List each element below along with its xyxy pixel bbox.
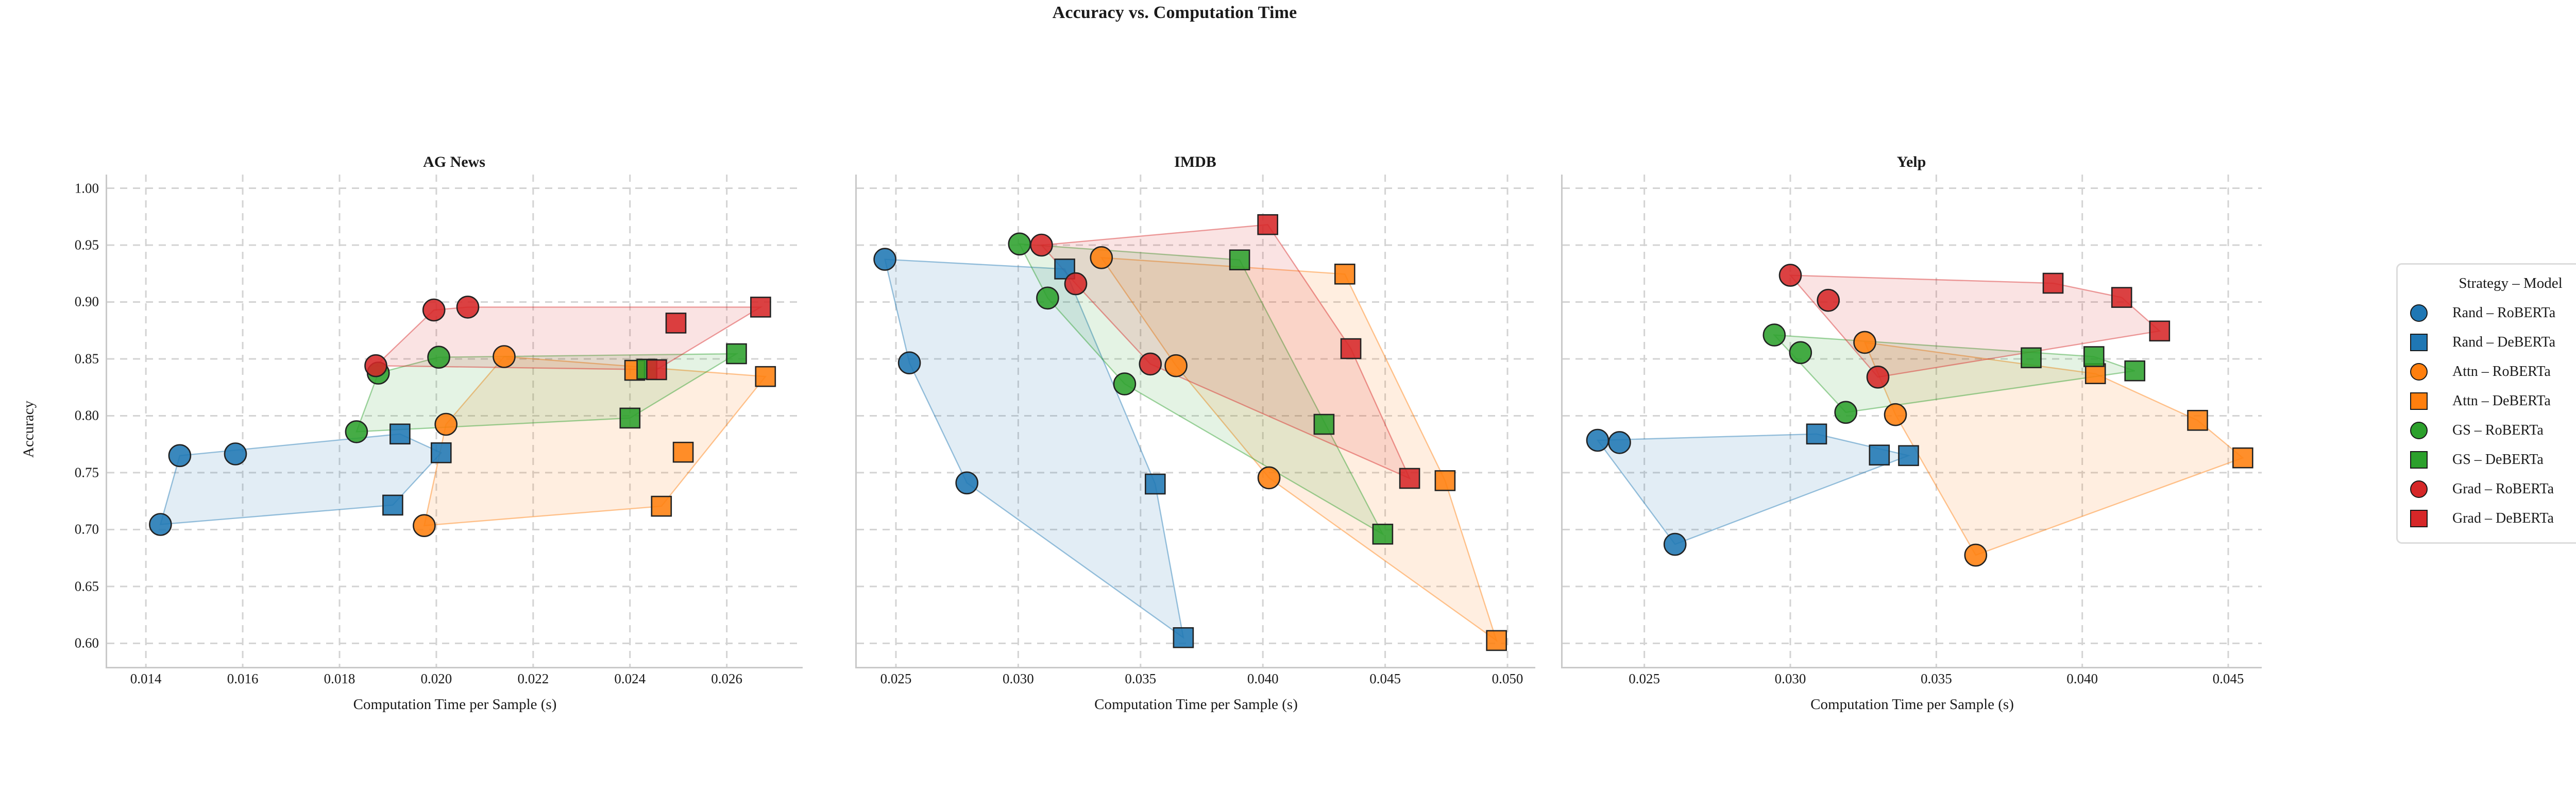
legend-item-label: Attn – DeBERTa bbox=[2452, 393, 2551, 409]
x-tick-label: 0.016 bbox=[227, 671, 259, 687]
data-point-circle[interactable] bbox=[413, 515, 435, 537]
data-point-circle[interactable] bbox=[494, 346, 515, 368]
plot-svg bbox=[857, 175, 1535, 667]
y-axis-label: Accuracy bbox=[21, 352, 38, 507]
data-point-square[interactable] bbox=[2233, 448, 2252, 468]
data-point-square[interactable] bbox=[383, 495, 402, 515]
data-point-circle[interactable] bbox=[1867, 366, 1889, 388]
legend-rows: Rand – RoBERTaRand – DeBERTaAttn – RoBER… bbox=[2398, 298, 2576, 533]
data-point-circle[interactable] bbox=[1835, 402, 1857, 423]
data-point-square[interactable] bbox=[1335, 264, 1354, 284]
figure-root: Accuracy vs. Computation Time AG News0.0… bbox=[0, 0, 2576, 793]
data-point-square[interactable] bbox=[1435, 471, 1455, 490]
data-point-square[interactable] bbox=[673, 442, 693, 462]
legend-circle-icon bbox=[2410, 480, 2428, 498]
y-tick-label: 0.75 bbox=[75, 464, 99, 480]
panel-yelp: Yelp0.0250.0300.0350.0400.045Computation… bbox=[1561, 154, 2262, 731]
data-point-square[interactable] bbox=[2022, 348, 2041, 368]
data-point-square[interactable] bbox=[1807, 424, 1826, 444]
x-tick-label: 0.018 bbox=[324, 671, 355, 687]
x-tick-label: 0.014 bbox=[130, 671, 162, 687]
legend-square-icon bbox=[2410, 392, 2428, 410]
y-tick-label: 0.85 bbox=[75, 351, 99, 367]
x-tick-label: 0.026 bbox=[711, 671, 742, 687]
legend-item[interactable]: Grad – RoBERTa bbox=[2398, 474, 2576, 504]
legend-item-label: Grad – RoBERTa bbox=[2452, 481, 2554, 497]
data-point-square[interactable] bbox=[1870, 445, 1889, 465]
x-tick-label: 0.045 bbox=[2213, 671, 2244, 687]
y-tick-label: 0.70 bbox=[75, 522, 99, 538]
x-tick-label: 0.022 bbox=[517, 671, 549, 687]
y-tick-label: 0.80 bbox=[75, 408, 99, 424]
plot-area: 0.0140.0160.0180.0200.0220.0240.0260.600… bbox=[106, 175, 803, 668]
data-point-square[interactable] bbox=[1487, 631, 1506, 650]
y-tick-label: 0.60 bbox=[75, 635, 99, 651]
data-point-square[interactable] bbox=[2150, 321, 2170, 341]
data-point-circle[interactable] bbox=[1764, 324, 1785, 346]
data-point-circle[interactable] bbox=[225, 443, 246, 465]
data-point-square[interactable] bbox=[666, 313, 686, 333]
y-tick-label: 1.00 bbox=[75, 180, 99, 196]
panel-title: AG News bbox=[106, 153, 803, 171]
data-point-square[interactable] bbox=[1145, 474, 1165, 494]
legend-item[interactable]: Rand – DeBERTa bbox=[2398, 327, 2576, 357]
data-point-square[interactable] bbox=[727, 344, 747, 364]
data-point-circle[interactable] bbox=[1818, 289, 1839, 311]
x-tick-label: 0.020 bbox=[421, 671, 452, 687]
legend-item-label: GS – DeBERTa bbox=[2452, 452, 2544, 468]
data-point-circle[interactable] bbox=[457, 296, 479, 318]
panel-title: Yelp bbox=[1561, 153, 2262, 171]
data-point-circle[interactable] bbox=[346, 421, 367, 442]
data-point-square[interactable] bbox=[647, 360, 666, 380]
plot-svg bbox=[1563, 175, 2262, 667]
legend-item[interactable]: Attn – RoBERTa bbox=[2398, 357, 2576, 386]
data-point-square[interactable] bbox=[2043, 273, 2063, 293]
data-point-square[interactable] bbox=[1174, 628, 1193, 647]
data-point-circle[interactable] bbox=[1609, 432, 1631, 453]
legend-item-label: Grad – DeBERTa bbox=[2452, 510, 2554, 527]
data-point-square[interactable] bbox=[756, 367, 775, 386]
plot-area: 0.0250.0300.0350.0400.0450.050Computatio… bbox=[855, 175, 1535, 668]
data-point-square[interactable] bbox=[390, 424, 410, 444]
figure-title: Accuracy vs. Computation Time bbox=[0, 3, 2349, 23]
data-point-circle[interactable] bbox=[1009, 233, 1030, 255]
data-point-square[interactable] bbox=[1899, 446, 1919, 466]
x-tick-label: 0.040 bbox=[1247, 671, 1279, 687]
data-point-circle[interactable] bbox=[1258, 467, 1280, 489]
data-point-circle[interactable] bbox=[428, 347, 450, 368]
data-point-circle[interactable] bbox=[1037, 287, 1058, 309]
x-tick-label: 0.040 bbox=[2066, 671, 2098, 687]
x-axis-label: Computation Time per Sample (s) bbox=[857, 696, 1535, 713]
panel-title: IMDB bbox=[855, 153, 1535, 171]
panel-ag-news: AG News0.0140.0160.0180.0200.0220.0240.0… bbox=[106, 154, 803, 731]
legend-circle-icon bbox=[2410, 304, 2428, 322]
x-tick-label: 0.050 bbox=[1492, 671, 1523, 687]
data-point-circle[interactable] bbox=[435, 413, 457, 435]
data-point-square[interactable] bbox=[2188, 410, 2208, 430]
legend-square-icon bbox=[2410, 510, 2428, 527]
data-point-square[interactable] bbox=[1400, 469, 1419, 488]
x-tick-label: 0.045 bbox=[1369, 671, 1401, 687]
plot-svg bbox=[107, 175, 803, 667]
legend-circle-icon bbox=[2410, 363, 2428, 381]
x-tick-label: 0.035 bbox=[1921, 671, 1952, 687]
data-point-square[interactable] bbox=[1373, 524, 1393, 544]
data-point-circle[interactable] bbox=[1031, 234, 1053, 256]
data-point-circle[interactable] bbox=[1140, 353, 1161, 375]
legend-item-label: Rand – DeBERTa bbox=[2452, 334, 2555, 351]
data-point-circle[interactable] bbox=[1165, 355, 1187, 376]
data-point-circle[interactable] bbox=[1854, 332, 1876, 353]
legend-item[interactable]: Rand – RoBERTa bbox=[2398, 298, 2576, 327]
legend-item-label: Attn – RoBERTa bbox=[2452, 364, 2551, 380]
data-point-square[interactable] bbox=[1258, 215, 1278, 234]
data-point-circle[interactable] bbox=[365, 355, 387, 376]
y-tick-label: 0.65 bbox=[75, 578, 99, 594]
data-point-square[interactable] bbox=[431, 443, 451, 462]
y-tick-label: 0.95 bbox=[75, 237, 99, 253]
x-tick-label: 0.035 bbox=[1125, 671, 1156, 687]
data-point-circle[interactable] bbox=[899, 352, 920, 374]
legend-square-icon bbox=[2410, 334, 2428, 351]
panel-imdb: IMDB0.0250.0300.0350.0400.0450.050Comput… bbox=[855, 154, 1535, 731]
data-point-circle[interactable] bbox=[423, 299, 445, 321]
data-point-square[interactable] bbox=[2125, 361, 2145, 381]
y-tick-label: 0.90 bbox=[75, 294, 99, 310]
x-axis-label: Computation Time per Sample (s) bbox=[107, 696, 803, 713]
data-point-circle[interactable] bbox=[1065, 273, 1087, 295]
data-point-circle[interactable] bbox=[1885, 404, 1906, 425]
data-point-square[interactable] bbox=[2084, 347, 2104, 367]
data-point-circle[interactable] bbox=[1114, 373, 1136, 395]
data-point-circle[interactable] bbox=[1587, 429, 1608, 451]
x-axis-label: Computation Time per Sample (s) bbox=[1563, 696, 2262, 713]
legend-circle-icon bbox=[2410, 422, 2428, 439]
legend-item-label: Rand – RoBERTa bbox=[2452, 305, 2555, 321]
data-point-square[interactable] bbox=[620, 408, 640, 428]
legend-item[interactable]: Attn – DeBERTa bbox=[2398, 386, 2576, 416]
data-point-circle[interactable] bbox=[1790, 342, 1811, 364]
data-point-square[interactable] bbox=[1341, 339, 1361, 358]
x-tick-label: 0.025 bbox=[880, 671, 912, 687]
data-point-circle[interactable] bbox=[956, 472, 978, 494]
data-point-circle[interactable] bbox=[874, 249, 896, 270]
plot-canvas bbox=[107, 175, 803, 667]
plot-area: 0.0250.0300.0350.0400.045Computation Tim… bbox=[1561, 175, 2262, 668]
data-point-square[interactable] bbox=[652, 496, 671, 516]
x-tick-label: 0.024 bbox=[614, 671, 646, 687]
data-point-circle[interactable] bbox=[1091, 247, 1112, 268]
data-point-circle[interactable] bbox=[169, 445, 191, 467]
legend-item[interactable]: GS – RoBERTa bbox=[2398, 416, 2576, 445]
data-point-square[interactable] bbox=[1230, 250, 1249, 270]
legend-title: Strategy – Model bbox=[2398, 273, 2576, 298]
data-point-square[interactable] bbox=[1314, 415, 1334, 434]
data-point-circle[interactable] bbox=[1664, 533, 1686, 555]
data-point-circle[interactable] bbox=[1780, 265, 1801, 286]
legend-item-label: GS – RoBERTa bbox=[2452, 422, 2544, 439]
plot-canvas bbox=[857, 175, 1535, 667]
legend-item[interactable]: GS – DeBERTa bbox=[2398, 445, 2576, 474]
x-tick-label: 0.030 bbox=[1003, 671, 1034, 687]
data-point-circle[interactable] bbox=[149, 514, 171, 536]
data-point-square[interactable] bbox=[2112, 288, 2131, 307]
x-tick-label: 0.030 bbox=[1775, 671, 1806, 687]
plot-canvas bbox=[1563, 175, 2262, 667]
legend-square-icon bbox=[2410, 451, 2428, 469]
legend-item[interactable]: Grad – DeBERTa bbox=[2398, 504, 2576, 533]
x-tick-label: 0.025 bbox=[1629, 671, 1660, 687]
data-point-square[interactable] bbox=[751, 297, 770, 317]
legend-box: Strategy – Model Rand – RoBERTaRand – De… bbox=[2396, 263, 2576, 544]
data-point-circle[interactable] bbox=[1965, 544, 1987, 566]
